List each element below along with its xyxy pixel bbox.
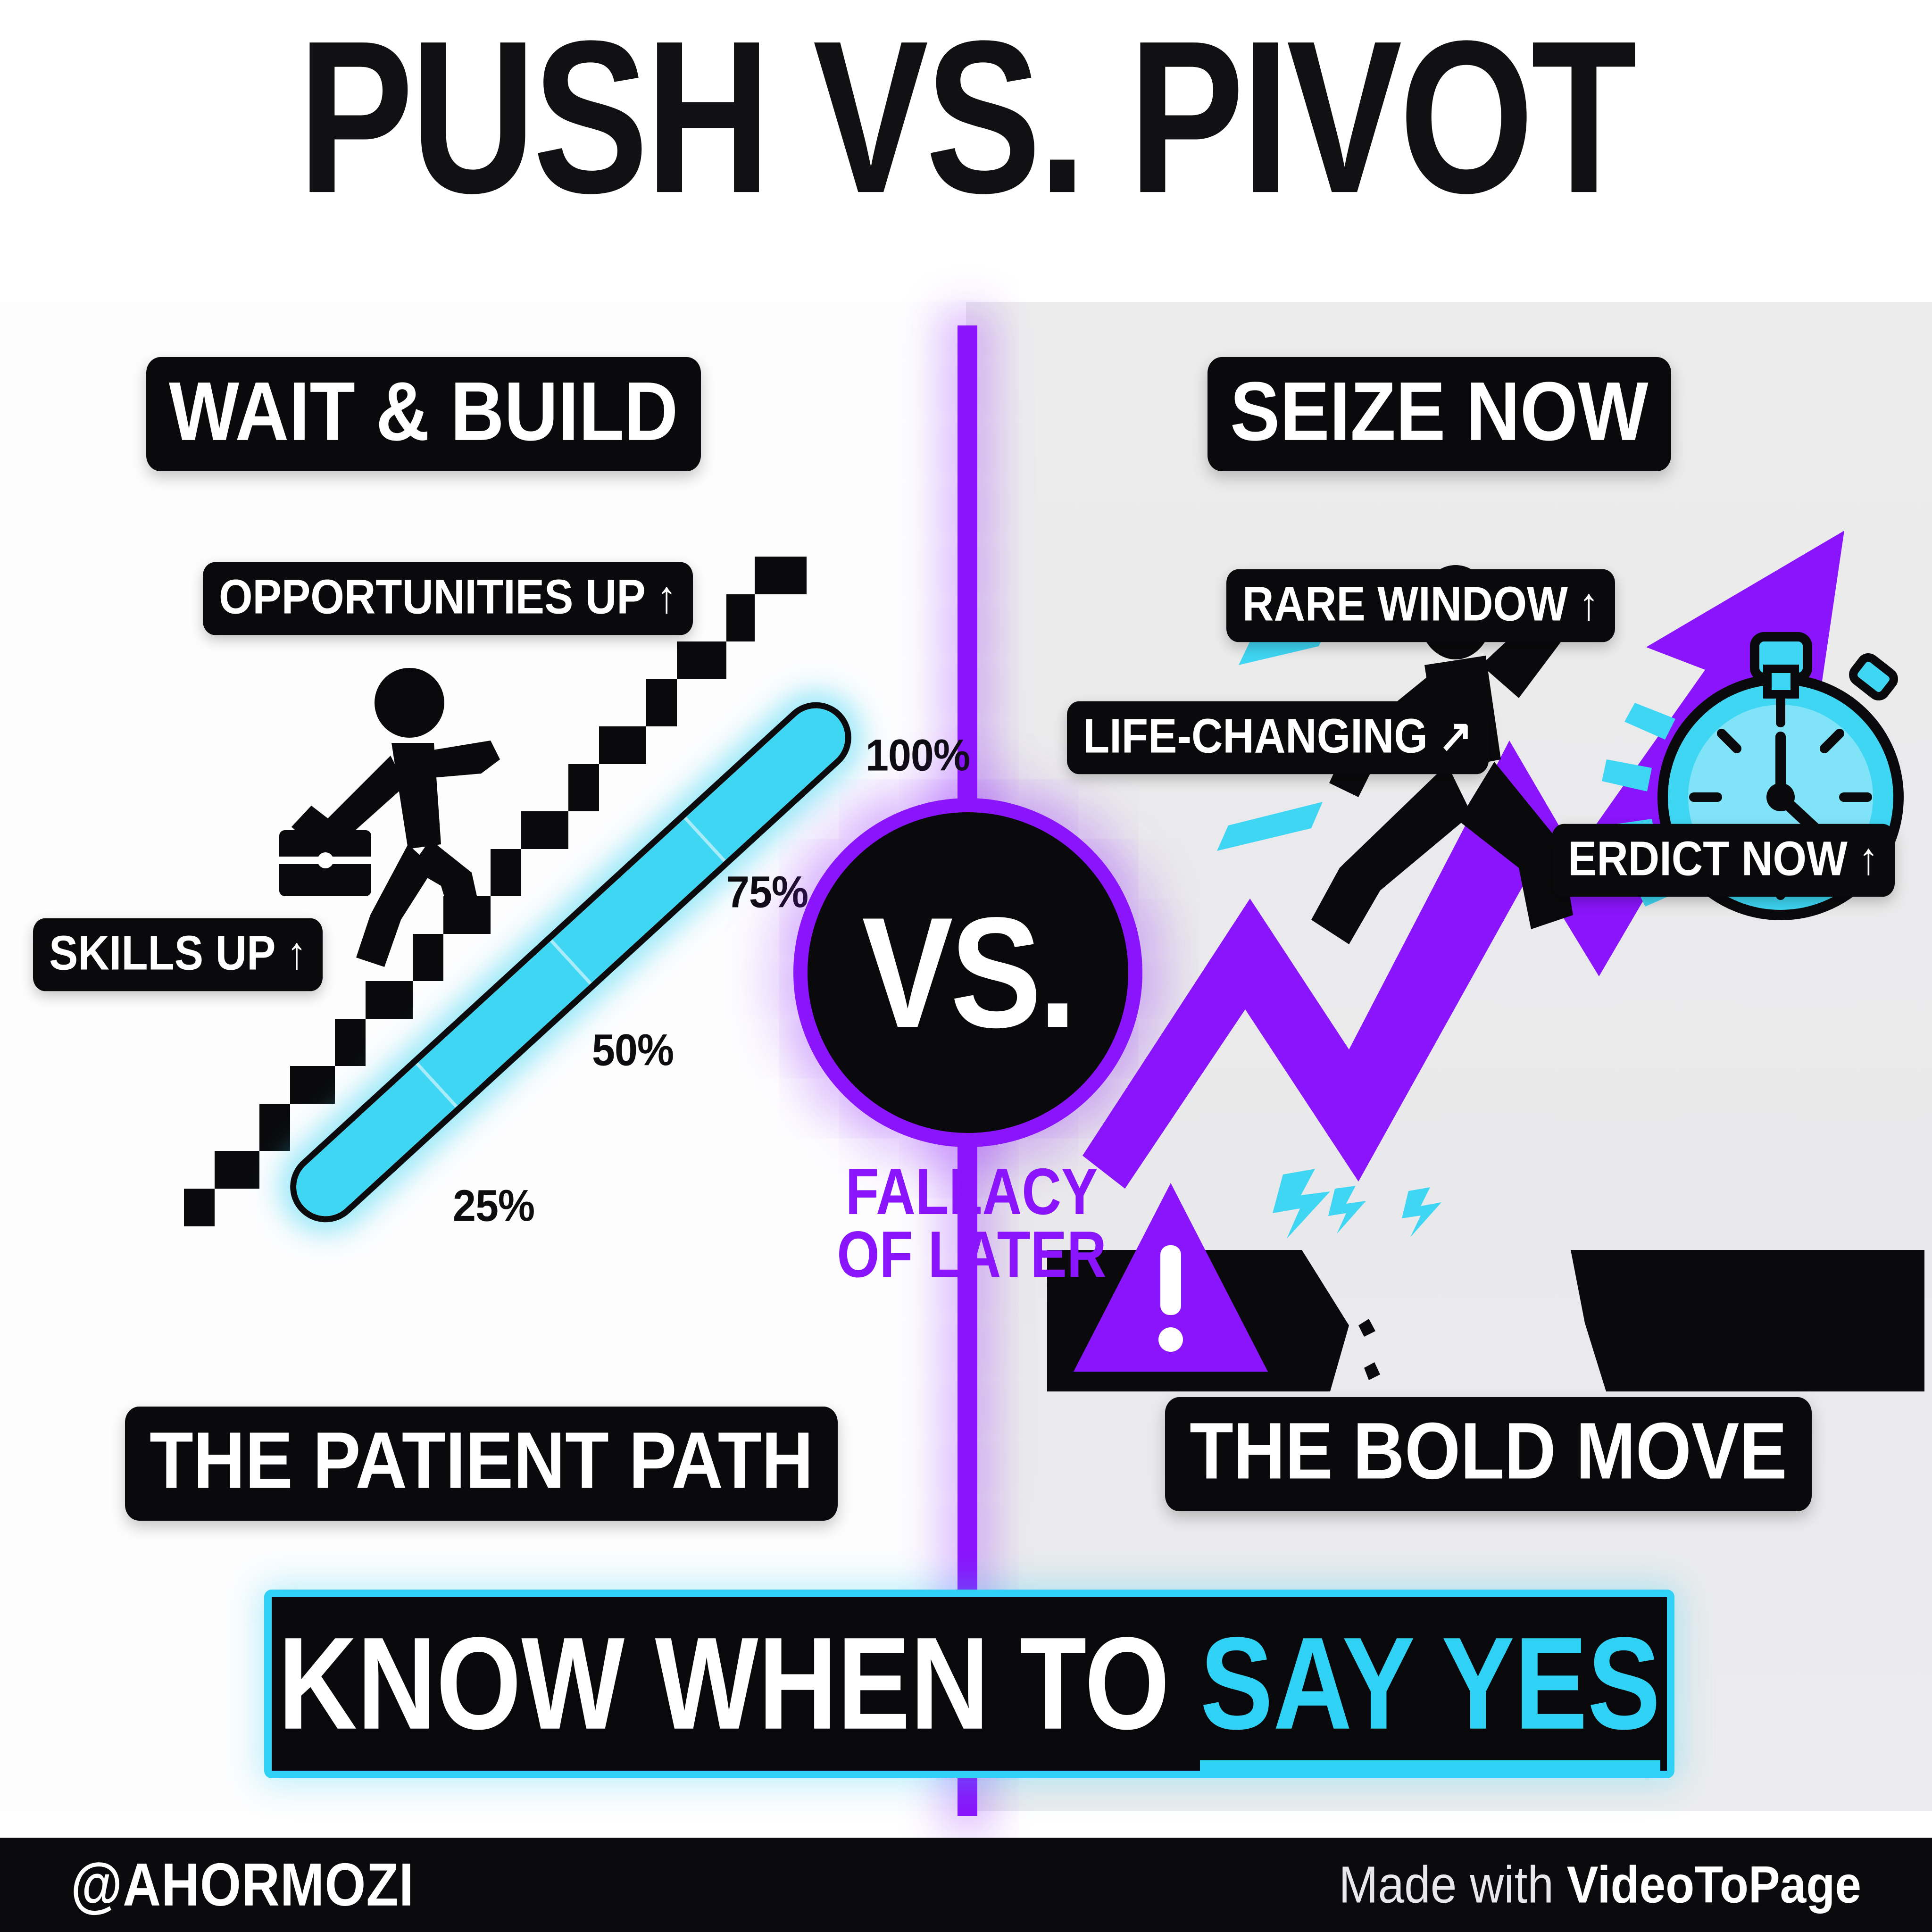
badge-opportunities-up: OPPORTUNITIES UP ↑ <box>203 562 693 635</box>
fallacy-line-2: OF LATER <box>774 1224 1170 1287</box>
badge-erdict-now: ERDICT NOW ↑ <box>1552 824 1895 897</box>
arrow-up-icon: ↑ <box>1579 581 1599 626</box>
cta-main: KNOW WHEN TO <box>278 1610 1200 1757</box>
made-with-prefix: Made with <box>1339 1856 1567 1914</box>
vs-badge: VS. <box>793 798 1142 1147</box>
badge-label: ERDICT NOW <box>1568 834 1848 883</box>
progress-label-25: 25% <box>453 1180 534 1232</box>
vs-label: VS. <box>862 894 1074 1051</box>
fallacy-caption: FALLACY OF LATER <box>774 1160 1170 1286</box>
right-footer-banner: THE BOLD MOVE <box>1165 1397 1812 1511</box>
made-with-credit: Made with VideoToPage <box>1339 1859 1861 1911</box>
cta-text: KNOW WHEN TO SAY YES <box>278 1618 1661 1749</box>
arrow-up-icon: ↑ <box>1858 836 1879 881</box>
made-with-brand: VideoToPage <box>1567 1856 1861 1914</box>
infographic-canvas: PUSH VS. PIVOT WAIT & BUILD 2 <box>0 0 1932 1932</box>
badge-label: RARE WINDOW <box>1242 580 1568 628</box>
progress-label-50: 50% <box>592 1024 674 1076</box>
badge-rare-window: RARE WINDOW ↑ <box>1226 569 1615 642</box>
left-footer-banner: THE PATIENT PATH <box>125 1407 838 1521</box>
arrow-up-icon: ↑ <box>286 930 307 975</box>
left-panel-header: WAIT & BUILD <box>146 357 701 471</box>
progress-label-100: 100% <box>866 729 970 781</box>
author-handle: @AHORMOZI <box>71 1855 414 1915</box>
cta-banner[interactable]: KNOW WHEN TO SAY YES <box>264 1590 1674 1778</box>
badge-label: SKILLS UP <box>49 929 275 977</box>
badge-skills-up: SKILLS UP ↑ <box>33 918 323 991</box>
vs-circle: VS. <box>793 798 1142 1147</box>
page-title: PUSH VS. PIVOT <box>0 8 1932 226</box>
badge-life-changing: LIFE-CHANGING ↗ <box>1067 701 1489 774</box>
fallacy-line-1: FALLACY <box>774 1160 1170 1224</box>
right-panel-header: SEIZE NOW <box>1207 357 1671 471</box>
arrow-up-right-icon: ↗ <box>1439 713 1473 758</box>
arrow-up-icon: ↑ <box>657 574 677 619</box>
badge-label: LIFE-CHANGING <box>1083 712 1428 760</box>
badge-label: OPPORTUNITIES UP <box>219 573 646 621</box>
footer-bar: @AHORMOZI Made with VideoToPage <box>0 1838 1932 1932</box>
cta-accent: SAY YES <box>1200 1610 1660 1773</box>
